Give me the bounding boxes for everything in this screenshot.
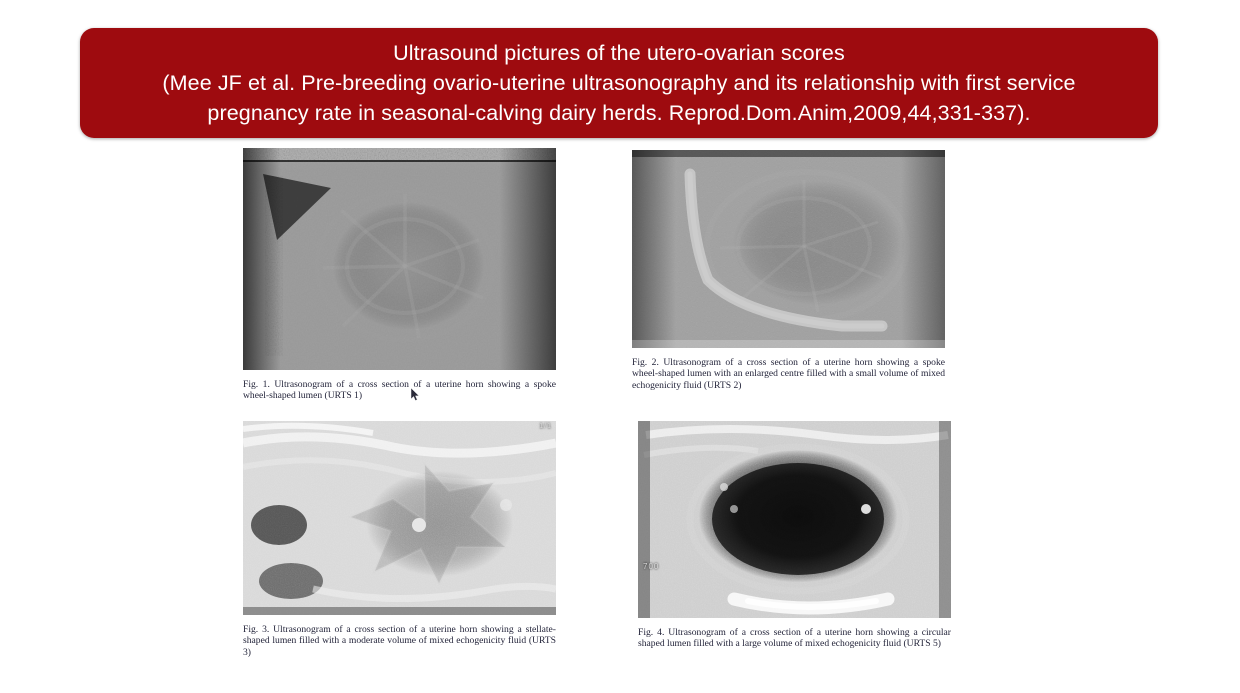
figure-2-caption: Fig. 2. Ultrasonogram of a cross section…	[632, 357, 945, 391]
figure-2: Fig. 2. Ultrasonogram of a cross section…	[632, 150, 945, 391]
title-line-1: Ultrasound pictures of the utero-ovarian…	[393, 38, 845, 68]
slide-title-banner: Ultrasound pictures of the utero-ovarian…	[80, 28, 1158, 138]
title-line-3: pregnancy rate in seasonal-calving dairy…	[207, 98, 1030, 128]
ultrasound-render-2	[632, 150, 945, 348]
ultrasound-overlay-text-3: 1/1	[539, 423, 552, 430]
ultrasound-render-1	[243, 148, 556, 370]
figure-1: Fig. 1. Ultrasonogram of a cross section…	[243, 148, 556, 402]
ultrasound-render-4	[638, 421, 951, 618]
title-line-2: (Mee JF et al. Pre-breeding ovario-uteri…	[162, 68, 1075, 98]
ultrasound-image-1[interactable]	[243, 148, 556, 370]
ultrasound-render-3	[243, 421, 556, 615]
figure-1-caption: Fig. 1. Ultrasonogram of a cross section…	[243, 379, 556, 402]
figure-3-caption: Fig. 3. Ultrasonogram of a cross section…	[243, 624, 556, 658]
ultrasound-image-4[interactable]: 700	[638, 421, 951, 618]
ultrasound-overlay-text-4: 700	[643, 562, 659, 571]
ultrasound-image-2[interactable]	[632, 150, 945, 348]
figure-4-caption: Fig. 4. Ultrasonogram of a cross section…	[638, 627, 951, 650]
figure-3: 1/1 Fig. 3. Ultrasonogram of a cross sec…	[243, 421, 556, 658]
ultrasound-image-3[interactable]: 1/1	[243, 421, 556, 615]
figure-4: 700 Fig. 4. Ultrasonogram of a cross sec…	[638, 421, 951, 650]
